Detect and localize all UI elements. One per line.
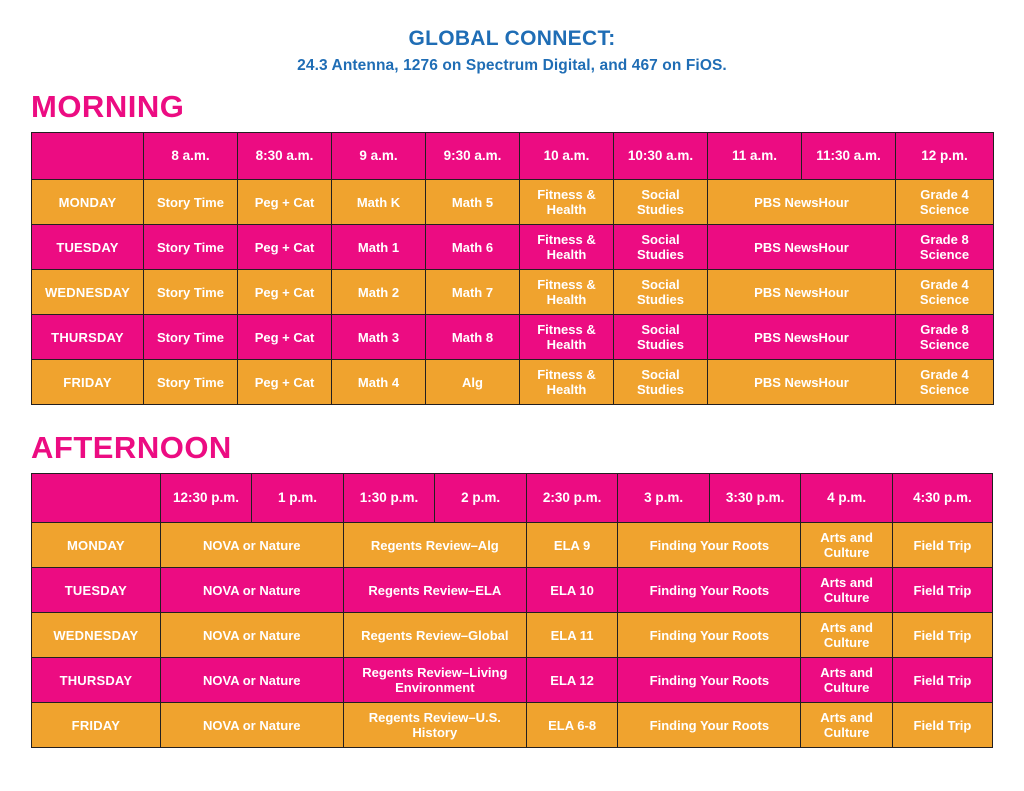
morning-table-wrap: 8 a.m.8:30 a.m.9 a.m.9:30 a.m.10 a.m.10:… <box>0 132 1024 405</box>
table-row: FRIDAYStory TimePeg + CatMath 4AlgFitnes… <box>32 360 994 405</box>
program-cell: Peg + Cat <box>238 315 332 360</box>
table-row: THURSDAYNOVA or NatureRegents Review–Liv… <box>32 658 993 703</box>
column-header-time: 9:30 a.m. <box>426 133 520 180</box>
table-row: FRIDAYNOVA or NatureRegents Review–U.S. … <box>32 703 993 748</box>
program-cell: Math 1 <box>332 225 426 270</box>
day-label-monday: MONDAY <box>32 523 161 568</box>
day-label-friday: FRIDAY <box>32 703 161 748</box>
program-cell: Fitness & Health <box>520 360 614 405</box>
day-label-wednesday: WEDNESDAY <box>32 270 144 315</box>
morning-table-body: MONDAYStory TimePeg + CatMath KMath 5Fit… <box>32 180 994 405</box>
program-cell: Math 5 <box>426 180 520 225</box>
program-cell: Regents Review–Living Environment <box>343 658 526 703</box>
program-cell: Social Studies <box>614 180 708 225</box>
program-cell: Grade 8 Science <box>896 315 994 360</box>
afternoon-table-wrap: 12:30 p.m.1 p.m.1:30 p.m.2 p.m.2:30 p.m.… <box>0 473 1024 748</box>
program-cell: ELA 11 <box>526 613 618 658</box>
program-cell: Fitness & Health <box>520 315 614 360</box>
column-header-time: 4 p.m. <box>801 474 893 523</box>
program-cell: Story Time <box>144 225 238 270</box>
program-cell: Field Trip <box>892 703 992 748</box>
day-label-thursday: THURSDAY <box>32 315 144 360</box>
day-label-tuesday: TUESDAY <box>32 225 144 270</box>
table-row: THURSDAYStory TimePeg + CatMath 3Math 8F… <box>32 315 994 360</box>
column-header-time: 2:30 p.m. <box>526 474 618 523</box>
column-header-time: 3:30 p.m. <box>709 474 801 523</box>
program-cell: Fitness & Health <box>520 270 614 315</box>
column-header-time: 11 a.m. <box>708 133 802 180</box>
program-cell: Fitness & Health <box>520 225 614 270</box>
program-cell: Field Trip <box>892 613 992 658</box>
section-heading-afternoon: AFTERNOON <box>31 430 1024 466</box>
column-header-time: 10 a.m. <box>520 133 614 180</box>
column-header-time: 3 p.m. <box>618 474 710 523</box>
program-cell: Story Time <box>144 360 238 405</box>
program-cell: Math 6 <box>426 225 520 270</box>
program-cell: Finding Your Roots <box>618 703 801 748</box>
program-cell: NOVA or Nature <box>160 568 343 613</box>
program-cell: PBS NewsHour <box>708 270 896 315</box>
program-cell: ELA 9 <box>526 523 618 568</box>
program-cell: Math 8 <box>426 315 520 360</box>
program-cell: Alg <box>426 360 520 405</box>
morning-header-row: 8 a.m.8:30 a.m.9 a.m.9:30 a.m.10 a.m.10:… <box>32 133 994 180</box>
day-label-monday: MONDAY <box>32 180 144 225</box>
column-header-time: 8 a.m. <box>144 133 238 180</box>
program-cell: Finding Your Roots <box>618 658 801 703</box>
program-cell: Regents Review–Alg <box>343 523 526 568</box>
program-cell: PBS NewsHour <box>708 225 896 270</box>
section-heading-morning: MORNING <box>31 89 1024 125</box>
program-cell: Arts and Culture <box>801 568 893 613</box>
program-cell: Social Studies <box>614 225 708 270</box>
table-row: WEDNESDAYNOVA or NatureRegents Review–Gl… <box>32 613 993 658</box>
table-row: TUESDAYNOVA or NatureRegents Review–ELAE… <box>32 568 993 613</box>
program-cell: NOVA or Nature <box>160 658 343 703</box>
program-cell: Arts and Culture <box>801 523 893 568</box>
day-label-thursday: THURSDAY <box>32 658 161 703</box>
program-cell: PBS NewsHour <box>708 360 896 405</box>
program-cell: PBS NewsHour <box>708 180 896 225</box>
program-cell: Grade 4 Science <box>896 270 994 315</box>
program-cell: NOVA or Nature <box>160 523 343 568</box>
program-cell: Math 7 <box>426 270 520 315</box>
program-cell: Peg + Cat <box>238 180 332 225</box>
page-title: GLOBAL CONNECT: <box>0 26 1024 52</box>
day-label-wednesday: WEDNESDAY <box>32 613 161 658</box>
program-cell: Story Time <box>144 315 238 360</box>
program-cell: Social Studies <box>614 315 708 360</box>
program-cell: Fitness & Health <box>520 180 614 225</box>
afternoon-table-head: 12:30 p.m.1 p.m.1:30 p.m.2 p.m.2:30 p.m.… <box>32 474 993 523</box>
column-header-time: 8:30 a.m. <box>238 133 332 180</box>
program-cell: Grade 8 Science <box>896 225 994 270</box>
program-cell: Story Time <box>144 270 238 315</box>
program-cell: Peg + Cat <box>238 360 332 405</box>
day-label-tuesday: TUESDAY <box>32 568 161 613</box>
program-cell: Field Trip <box>892 523 992 568</box>
schedule-page: GLOBAL CONNECT: 24.3 Antenna, 1276 on Sp… <box>0 0 1024 791</box>
table-row: MONDAYStory TimePeg + CatMath KMath 5Fit… <box>32 180 994 225</box>
column-header-time: 1 p.m. <box>252 474 344 523</box>
program-cell: PBS NewsHour <box>708 315 896 360</box>
program-cell: Grade 4 Science <box>896 360 994 405</box>
program-cell: Arts and Culture <box>801 703 893 748</box>
program-cell: Arts and Culture <box>801 658 893 703</box>
column-header-time: 2 p.m. <box>435 474 527 523</box>
program-cell: Peg + Cat <box>238 225 332 270</box>
program-cell: Finding Your Roots <box>618 568 801 613</box>
afternoon-table-body: MONDAYNOVA or NatureRegents Review–AlgEL… <box>32 523 993 748</box>
program-cell: ELA 6-8 <box>526 703 618 748</box>
column-header-time: 4:30 p.m. <box>892 474 992 523</box>
morning-schedule-table: 8 a.m.8:30 a.m.9 a.m.9:30 a.m.10 a.m.10:… <box>31 132 994 405</box>
program-cell: ELA 12 <box>526 658 618 703</box>
day-label-friday: FRIDAY <box>32 360 144 405</box>
program-cell: Field Trip <box>892 658 992 703</box>
program-cell: Regents Review–U.S. History <box>343 703 526 748</box>
column-header-time: 9 a.m. <box>332 133 426 180</box>
program-cell: Regents Review–ELA <box>343 568 526 613</box>
program-cell: NOVA or Nature <box>160 703 343 748</box>
program-cell: ELA 10 <box>526 568 618 613</box>
program-cell: Math 4 <box>332 360 426 405</box>
program-cell: Arts and Culture <box>801 613 893 658</box>
afternoon-header-row: 12:30 p.m.1 p.m.1:30 p.m.2 p.m.2:30 p.m.… <box>32 474 993 523</box>
program-cell: Math 3 <box>332 315 426 360</box>
column-header-time: 12 p.m. <box>896 133 994 180</box>
column-header-time: 1:30 p.m. <box>343 474 435 523</box>
column-header-time: 10:30 a.m. <box>614 133 708 180</box>
program-cell: Grade 4 Science <box>896 180 994 225</box>
morning-table-head: 8 a.m.8:30 a.m.9 a.m.9:30 a.m.10 a.m.10:… <box>32 133 994 180</box>
column-header-time: 11:30 a.m. <box>802 133 896 180</box>
table-row: WEDNESDAYStory TimePeg + CatMath 2Math 7… <box>32 270 994 315</box>
program-cell: Social Studies <box>614 360 708 405</box>
program-cell: Field Trip <box>892 568 992 613</box>
program-cell: Finding Your Roots <box>618 613 801 658</box>
program-cell: Story Time <box>144 180 238 225</box>
morning-table-corner <box>32 133 144 180</box>
program-cell: Math K <box>332 180 426 225</box>
program-cell: Peg + Cat <box>238 270 332 315</box>
afternoon-table-corner <box>32 474 161 523</box>
table-row: TUESDAYStory TimePeg + CatMath 1Math 6Fi… <box>32 225 994 270</box>
program-cell: NOVA or Nature <box>160 613 343 658</box>
program-cell: Math 2 <box>332 270 426 315</box>
program-cell: Finding Your Roots <box>618 523 801 568</box>
afternoon-schedule-table: 12:30 p.m.1 p.m.1:30 p.m.2 p.m.2:30 p.m.… <box>31 473 993 748</box>
column-header-time: 12:30 p.m. <box>160 474 252 523</box>
document-header: GLOBAL CONNECT: 24.3 Antenna, 1276 on Sp… <box>0 0 1024 75</box>
program-cell: Social Studies <box>614 270 708 315</box>
program-cell: Regents Review–Global <box>343 613 526 658</box>
table-row: MONDAYNOVA or NatureRegents Review–AlgEL… <box>32 523 993 568</box>
page-subtitle: 24.3 Antenna, 1276 on Spectrum Digital, … <box>0 57 1024 75</box>
